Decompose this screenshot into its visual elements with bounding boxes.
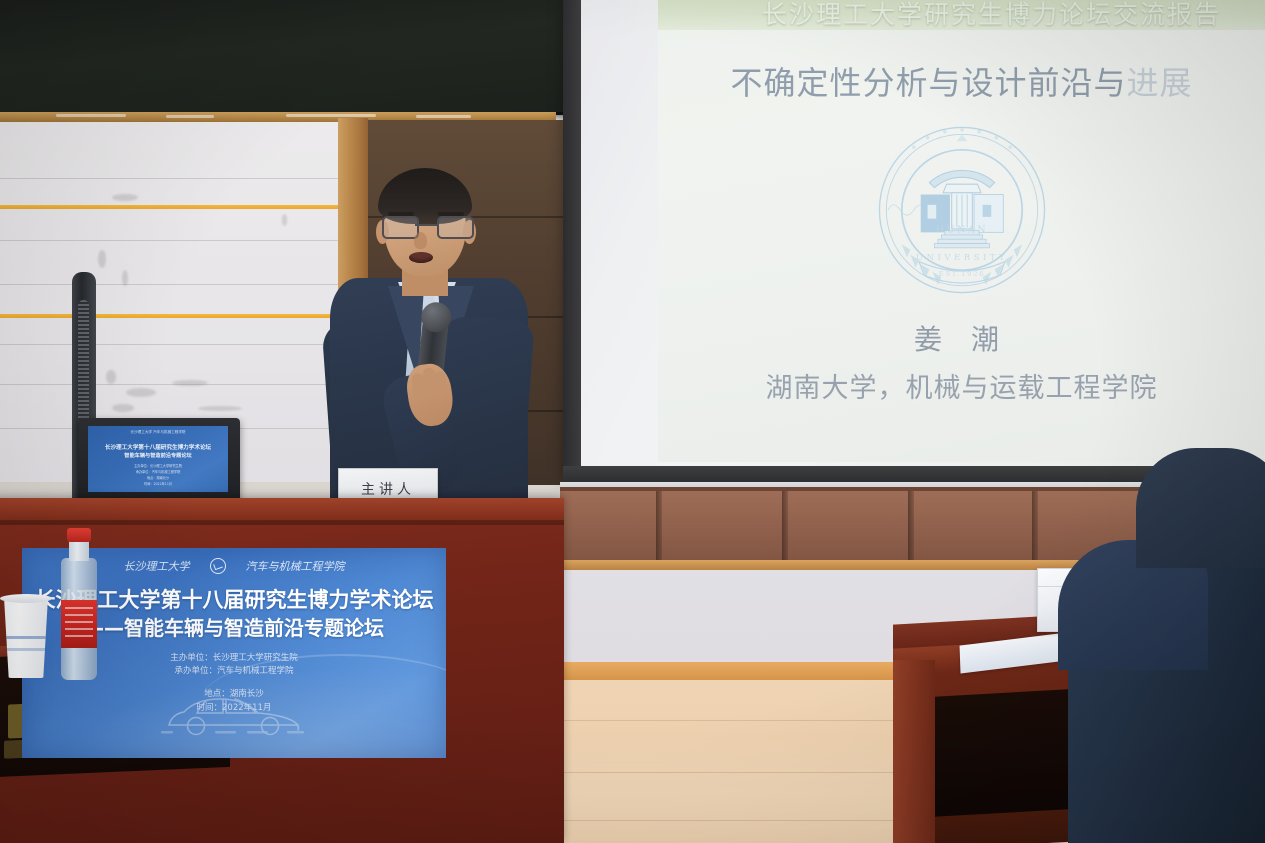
car-outline-icon [159,688,309,740]
right-desk-leg [893,660,935,843]
slide-banner-text: 长沙理工大学研究生博力论坛交流报告 [762,0,1221,30]
water-bottle [58,528,100,680]
slide-title-main: 不确定性分析与设计前沿与 [730,64,1126,102]
speaker-mouth [409,252,433,263]
laptop-slide-logos: 长沙理工大学 汽车与机械工程学院 [88,430,228,435]
glasses-icon [382,216,470,236]
chalkboard [0,0,566,115]
slide-speaker-affiliation: 湖南大学，机械与运载工程学院 [658,366,1265,405]
speaker-figure [326,168,532,513]
slide-speaker-name: 姜 潮 [658,318,1265,358]
svg-text:HUNAN: HUNAN [935,224,987,235]
svg-text:EST.1926: EST.1926 [938,270,985,278]
svg-text:UNIVERSITY: UNIVERSITY [915,253,1007,263]
laptop-screen: 长沙理工大学 汽车与机械工程学院 长沙理工大学第十八届研究生博力学术论坛 智能车… [88,426,228,492]
podium-banner-logo-right: 汽车与机械工程学院 [246,558,345,574]
projected-slide: 长沙理工大学研究生博力论坛交流报告 不确定性分析与设计前沿与进展 [658,0,1265,462]
slide-title: 不确定性分析与设计前沿与进展 [658,58,1265,104]
paper-cup [2,596,50,678]
laptop[interactable]: 长沙理工大学 汽车与机械工程学院 长沙理工大学第十八届研究生博力学术论坛 智能车… [78,418,240,506]
gear-circle-icon [210,558,226,574]
hunan-university-seal-icon: HUNAN UNIVERSITY EST.1926 [876,124,1048,296]
photo-scene: 长沙理工大学研究生博力论坛交流报告 不确定性分析与设计前沿与进展 [0,0,1265,843]
laptop-slide-meta-1: 主办单位：长沙理工大学研究生院 [88,464,228,469]
seated-attendee-figure [1040,478,1265,843]
speaker-nameplate-label: 主讲人 [361,479,415,499]
laptop-slide-subhead: 智能车辆与智造前沿专题论坛 [88,452,228,459]
laptop-slide-meta-4: 时间：2022年11月 [88,482,228,487]
laptop-slide-headline: 长沙理工大学第十八届研究生博力学术论坛 [88,443,228,451]
speaker-nose [414,232,427,249]
seated-attendee-head [1136,448,1265,568]
projection-screen-edge [563,0,581,478]
laptop-slide-meta-2: 承办单位：汽车与机械工程学院 [88,470,228,475]
slide-title-clipped: 进展 [1127,64,1193,102]
lectern-edge [0,520,564,525]
laptop-slide-meta-3: 地点：湖南长沙 [88,476,228,481]
paper-cup-rim [0,594,52,603]
slide-green-banner: 长沙理工大学研究生博力论坛交流报告 [658,0,1265,30]
podium-banner-logo-left: 长沙理工大学 [124,558,190,574]
